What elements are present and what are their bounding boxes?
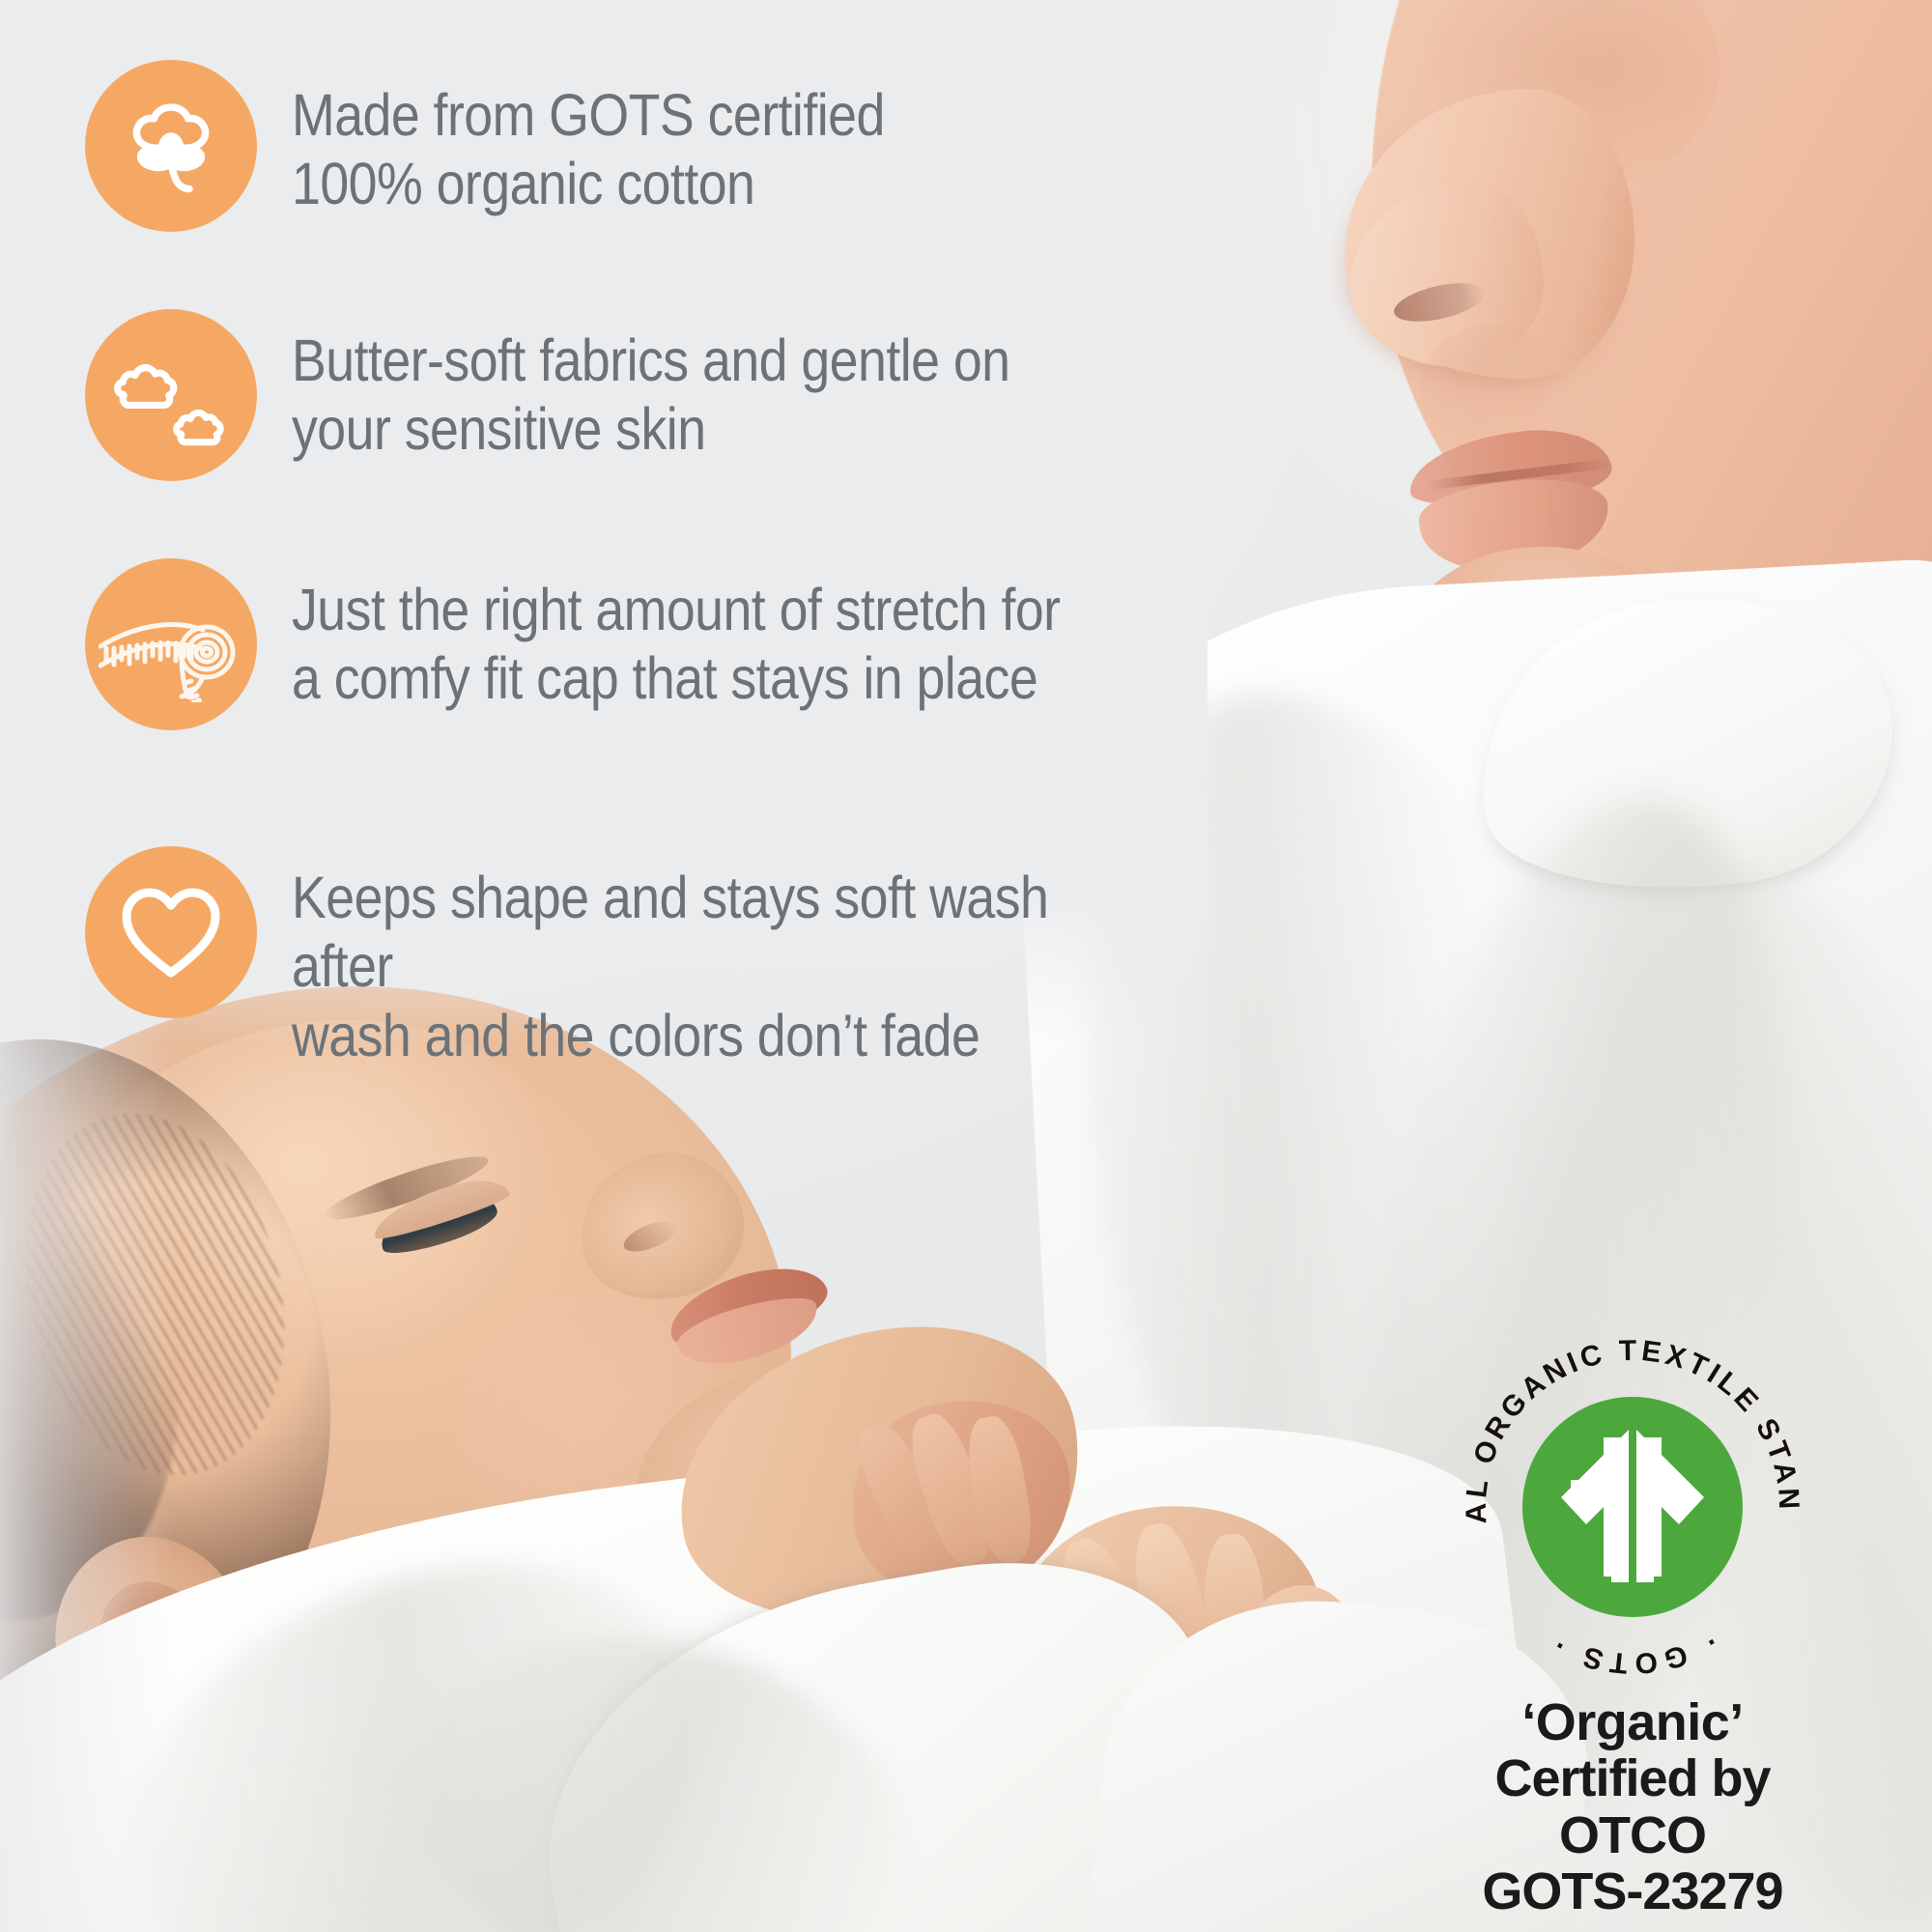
seal-center-gap [1629, 1459, 1636, 1582]
feature-text: Butter-soft fabrics and gentle on your s… [292, 309, 1009, 465]
caption-license-number: GOTS-23279 [1420, 1863, 1845, 1919]
measuring-tape-icon [85, 558, 257, 730]
certification-caption: ‘Organic’ Certified by OTCO GOTS-23279 [1420, 1694, 1845, 1919]
caption-organic: ‘Organic’ [1420, 1694, 1845, 1750]
feature-item-soft-fabric: Butter-soft fabrics and gentle on your s… [85, 309, 1108, 481]
feature-text: Made from GOTS certified 100% organic co… [292, 60, 885, 219]
feature-item-stretch-fit: Just the right amount of stretch for a c… [85, 558, 1165, 730]
promo-graphic: Made from GOTS certified 100% organic co… [0, 0, 1932, 1932]
feature-text: Keeps shape and stays soft wash after wa… [292, 846, 1140, 1070]
seal-ring-text-bottom: · GOTS · [1543, 1626, 1722, 1680]
feature-item-durability: Keeps shape and stays soft wash after wa… [85, 846, 1256, 1070]
gots-seal: GLOBAL ORGANIC TEXTILE STANDARD · GOTS · [1439, 1314, 1826, 1700]
heart-icon [85, 846, 257, 1018]
gots-certification: GLOBAL ORGANIC TEXTILE STANDARD · GOTS · [1420, 1314, 1845, 1893]
caption-certified-by: Certified by OTCO [1420, 1750, 1845, 1863]
feature-text: Just the right amount of stretch for a c… [292, 558, 1061, 714]
clouds-icon [85, 309, 257, 481]
cotton-flower-icon [85, 60, 257, 232]
feature-item-organic-cotton: Made from GOTS certified 100% organic co… [85, 60, 965, 232]
